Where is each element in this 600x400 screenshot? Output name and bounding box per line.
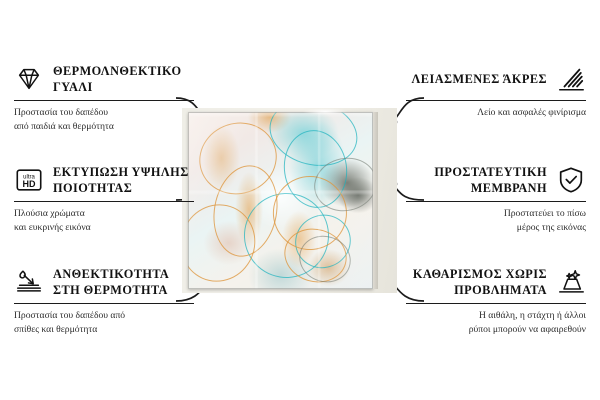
feature-callout-protective-membrane: ΠΡΟΣΤΑΤΕΥΤΙΚΗ ΜΕΜΒΡΑΝΗ Προστατεύει το πί… [406,163,586,234]
marble-artwork [188,112,373,289]
heat-resistance-icon [14,267,44,297]
feature-description: Προστατεύει το πίσω μέρος της εικόνας [406,207,586,234]
ultra-hd-icon: ultra HD [14,165,44,195]
easy-clean-icon [556,267,586,297]
feature-header: ΑΝΘΕΚΤΙΚΟΤΗΤΑ ΣΤΗ ΘΕΡΜΟΤΗΤΑ [14,265,194,299]
feature-description: Πλούσια χρώματα και ευκρινής εικόνα [14,207,194,234]
panel-side-edge [373,112,378,289]
feature-description: Η αιθάλη, η στάχτη ή άλλοι ρύποι μπορούν… [406,309,586,336]
feature-callout-thermal-glass: ΘΕΡΜΟΛΝΘΕΚΤΙΚΟ ΓΥΑΛΙ Προστασία του δαπέδ… [14,62,194,133]
feature-header: ultra HD ΕΚΤΥΠΩΣΗ ΥΨΗΛΗΣ ΠΟΙΟΤΗΤΑΣ [14,163,194,197]
feature-divider [14,303,194,304]
infographic-canvas: ΘΕΡΜΟΛΝΘΕΚΤΙΚΟ ΓΥΑΛΙ Προστασία του δαπέδ… [0,0,600,400]
feature-title: ΘΕΡΜΟΛΝΘΕΚΤΙΚΟ ΓΥΑΛΙ [53,63,194,95]
feature-description: Λείο και ασφαλές φινίρισμα [406,106,586,120]
svg-text:HD: HD [23,179,36,189]
polished-edges-icon [556,64,586,94]
feature-description: Προστασία του δαπέδου από παιδιά και θερ… [14,106,194,133]
feature-callout-heat-resistance: ΑΝΘΕΚΤΙΚΟΤΗΤΑ ΣΤΗ ΘΕΡΜΟΤΗΤΑ Προστασία το… [14,265,194,336]
feature-callout-high-quality-print: ultra HD ΕΚΤΥΠΩΣΗ ΥΨΗΛΗΣ ΠΟΙΟΤΗΤΑΣ Πλούσ… [14,163,194,234]
feature-title: ΚΑΘΑΡΙΣΜΟΣ ΧΩΡΙΣ ΠΡΟΒΛΗΜΑΤΑ [406,266,547,298]
feature-header: ΘΕΡΜΟΛΝΘΕΚΤΙΚΟ ΓΥΑΛΙ [14,62,194,96]
feature-callout-easy-clean: ΚΑΘΑΡΙΣΜΟΣ ΧΩΡΙΣ ΠΡΟΒΛΗΜΑΤΑ Η αιθάλη, η … [406,265,586,336]
feature-title: ΠΡΟΣΤΑΤΕΥΤΙΚΗ ΜΕΜΒΡΑΝΗ [406,164,547,196]
feature-header: ΚΑΘΑΡΙΣΜΟΣ ΧΩΡΙΣ ΠΡΟΒΛΗΜΑΤΑ [406,265,586,299]
feature-divider [406,100,586,101]
product-image [182,108,397,293]
glass-panel [188,112,373,289]
feature-header: ΛΕΙΑΣΜΕΝΕΣ ΆΚΡΕΣ [406,62,586,96]
shield-check-icon [556,165,586,195]
feature-title: ΑΝΘΕΚΤΙΚΟΤΗΤΑ ΣΤΗ ΘΕΡΜΟΤΗΤΑ [53,266,194,298]
feature-callout-polished-edges: ΛΕΙΑΣΜΕΝΕΣ ΆΚΡΕΣ Λείο και ασφαλές φινίρι… [406,62,586,120]
feature-divider [406,303,586,304]
diamond-icon [14,64,44,94]
feature-description: Προστασία του δαπέδου από σπίθες και θερ… [14,309,194,336]
feature-header: ΠΡΟΣΤΑΤΕΥΤΙΚΗ ΜΕΜΒΡΑΝΗ [406,163,586,197]
feature-divider [14,201,194,202]
feature-title: ΕΚΤΥΠΩΣΗ ΥΨΗΛΗΣ ΠΟΙΟΤΗΤΑΣ [53,164,194,196]
feature-divider [14,100,194,101]
feature-title: ΛΕΙΑΣΜΕΝΕΣ ΆΚΡΕΣ [412,71,547,87]
feature-divider [406,201,586,202]
